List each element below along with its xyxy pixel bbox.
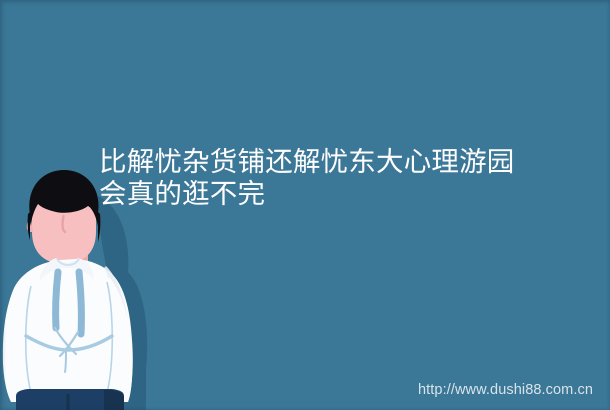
- cover-image: 比解忧杂货铺还解忧东大心理游园 会真的逛不完 http://www.dushi8…: [0, 0, 610, 410]
- watermark-url: http://www.dushi88.com.cn: [418, 382, 593, 398]
- headline-line-2: 会真的逛不完: [99, 178, 599, 210]
- drawstring-right: [79, 272, 81, 334]
- headline: 比解忧杂货铺还解忧东大心理游园 会真的逛不完: [99, 146, 599, 210]
- drawstring-left: [56, 272, 58, 328]
- hoodie: [3, 258, 133, 402]
- pants: [16, 389, 124, 410]
- headline-line-1: 比解忧杂货铺还解忧东大心理游园: [99, 146, 599, 178]
